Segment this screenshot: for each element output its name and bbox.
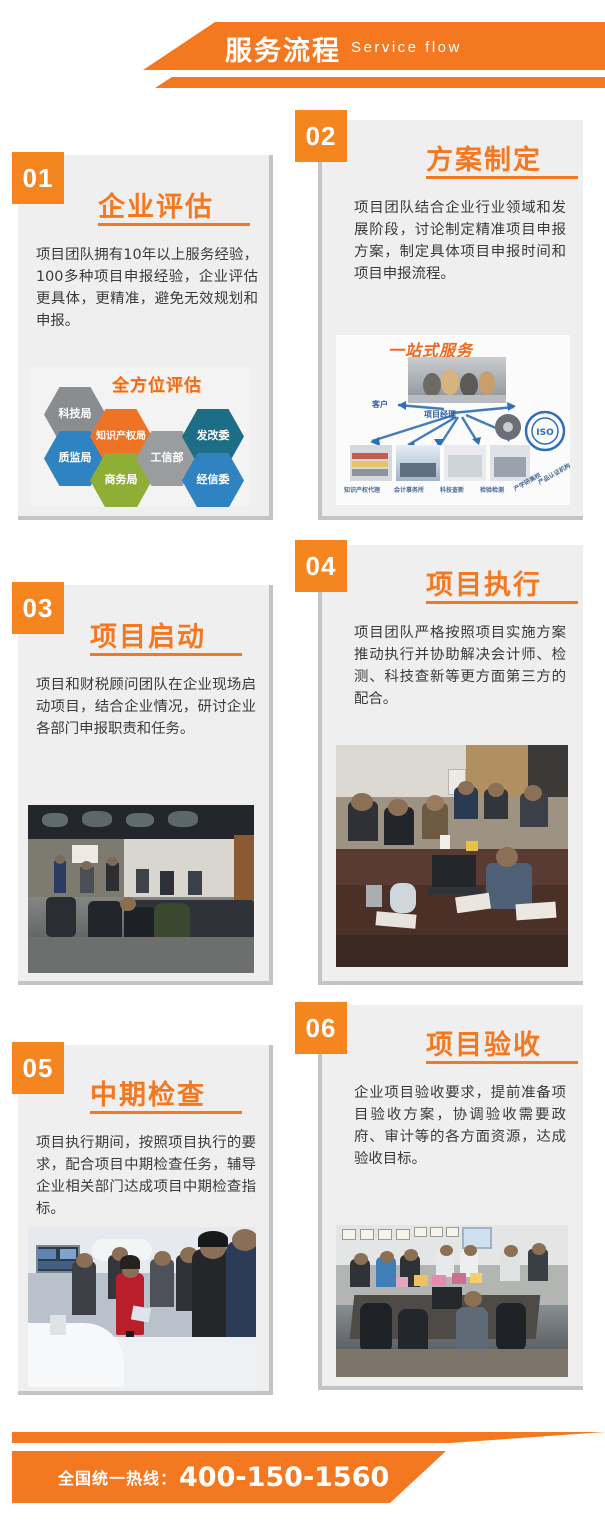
page-subtitle: Service flow [351, 39, 462, 58]
service-label-manager: 项目经理 [424, 409, 456, 420]
header-title-group: 服务流程 Service flow [225, 28, 605, 68]
card-text-05: 项目执行期间，按照项目执行的要求，配合项目中期检查任务，辅导企业相关部门达成项目… [36, 1133, 256, 1221]
card-title-05: 中期检查 [90, 1073, 206, 1112]
service-foot-1: 会计事务所 [394, 485, 424, 494]
step-badge-04: 04 [295, 540, 347, 592]
card-title-04: 项目执行 [426, 563, 542, 602]
card-title-01: 企业评估 [98, 185, 214, 224]
hex-diagram: 全方位评估 科技局 质监局 知识产权局 商务局 工信部 发改委 经信委 [30, 367, 250, 507]
hex-diagram-title: 全方位评估 [112, 371, 202, 396]
card-text-03: 项目和财税顾问团队在企业现场启动项目，结合企业情况，研讨企业各部门申报职责和任务… [36, 675, 256, 741]
card-title-03: 项目启动 [90, 615, 206, 654]
card-text-01: 项目团队拥有10年以上服务经验，100多种项目申报经验，企业评估更具体，更精准，… [36, 245, 258, 333]
service-foot-2: 科技查新 [440, 485, 464, 494]
card-underline-02 [426, 176, 578, 179]
photo-scene-05 [28, 1227, 256, 1387]
step-card-01[interactable]: 企业评估 项目团队拥有10年以上服务经验，100多种项目申报经验，企业评估更具体… [18, 155, 273, 520]
step-badge-03: 03 [12, 582, 64, 634]
hotline-group: 全国统一热线： 400-150-1560 [58, 1451, 389, 1503]
card-underline-03 [90, 653, 242, 656]
hotline-label: 全国统一热线： [58, 1465, 177, 1489]
step-badge-01: 01 [12, 152, 64, 204]
card-text-02: 项目团队结合企业行业领域和发展阶段，讨论制定精准项目申报方案，制定具体项目申报时… [354, 198, 566, 286]
service-label-customer: 客户 [372, 399, 388, 410]
photo-scene-03 [28, 805, 254, 973]
photo-scene-06 [336, 1225, 568, 1377]
step-card-02[interactable]: 方案制定 项目团队结合企业行业领域和发展阶段，讨论制定精准项目申报方案，制定具体… [318, 120, 583, 520]
hex-diagram-media: 全方位评估 科技局 质监局 知识产权局 商务局 工信部 发改委 经信委 [30, 367, 250, 507]
card-underline-05 [90, 1111, 242, 1114]
step-card-04[interactable]: 项目执行 项目团队严格按照项目实施方案推动执行并协助解决会计师、检测、科技查新等… [318, 545, 583, 985]
card-underline-01 [98, 223, 250, 226]
photo-scene-04 [336, 745, 568, 967]
card-underline-04 [426, 601, 578, 604]
photo-desk-meeting [336, 745, 568, 967]
photo-showroom-visit [28, 1227, 256, 1387]
step-badge-05: 05 [12, 1042, 64, 1094]
service-foot-3: 检验检测 [480, 485, 504, 494]
step-card-06[interactable]: 项目验收 企业项目验收要求，提前准备项目验收方案，协调验收需要政府、审计等的各方… [318, 1005, 583, 1390]
service-diagram: 一站式服务 [336, 335, 570, 505]
page-footer: 全国统一热线： 400-150-1560 [0, 1432, 605, 1522]
card-text-04: 项目团队严格按照项目实施方案推动执行并协助解决会计师、检测、科技查新等更方面第三… [354, 623, 566, 711]
page-title: 服务流程 [225, 29, 341, 68]
card-title-02: 方案制定 [426, 138, 542, 177]
step-card-03[interactable]: 项目启动 项目和财税顾问团队在企业现场启动项目，结合企业情况，研讨企业各部门申报… [18, 585, 273, 985]
service-diagram-media: 一站式服务 [336, 335, 570, 505]
step-badge-06: 06 [295, 1002, 347, 1054]
step-card-05[interactable]: 中期检查 项目执行期间，按照项目执行的要求，配合项目中期检查任务，辅导企业相关部… [18, 1045, 273, 1395]
card-text-06: 企业项目验收要求，提前准备项目验收方案，协调验收需要政府、审计等的各方面资源，达… [354, 1083, 566, 1171]
photo-conference-room [336, 1225, 568, 1377]
photo-meeting-room [28, 805, 254, 973]
svg-text:ISO: ISO [536, 428, 554, 438]
card-title-06: 项目验收 [426, 1023, 542, 1062]
header-stripe [0, 77, 605, 88]
footer-stripe [0, 1432, 605, 1443]
service-foot-0: 知识产权代理 [344, 485, 380, 494]
page-header: 服务流程 Service flow [0, 0, 605, 100]
hotline-number[interactable]: 400-150-1560 [179, 1462, 389, 1493]
card-underline-06 [426, 1061, 578, 1064]
step-badge-02: 02 [295, 110, 347, 162]
